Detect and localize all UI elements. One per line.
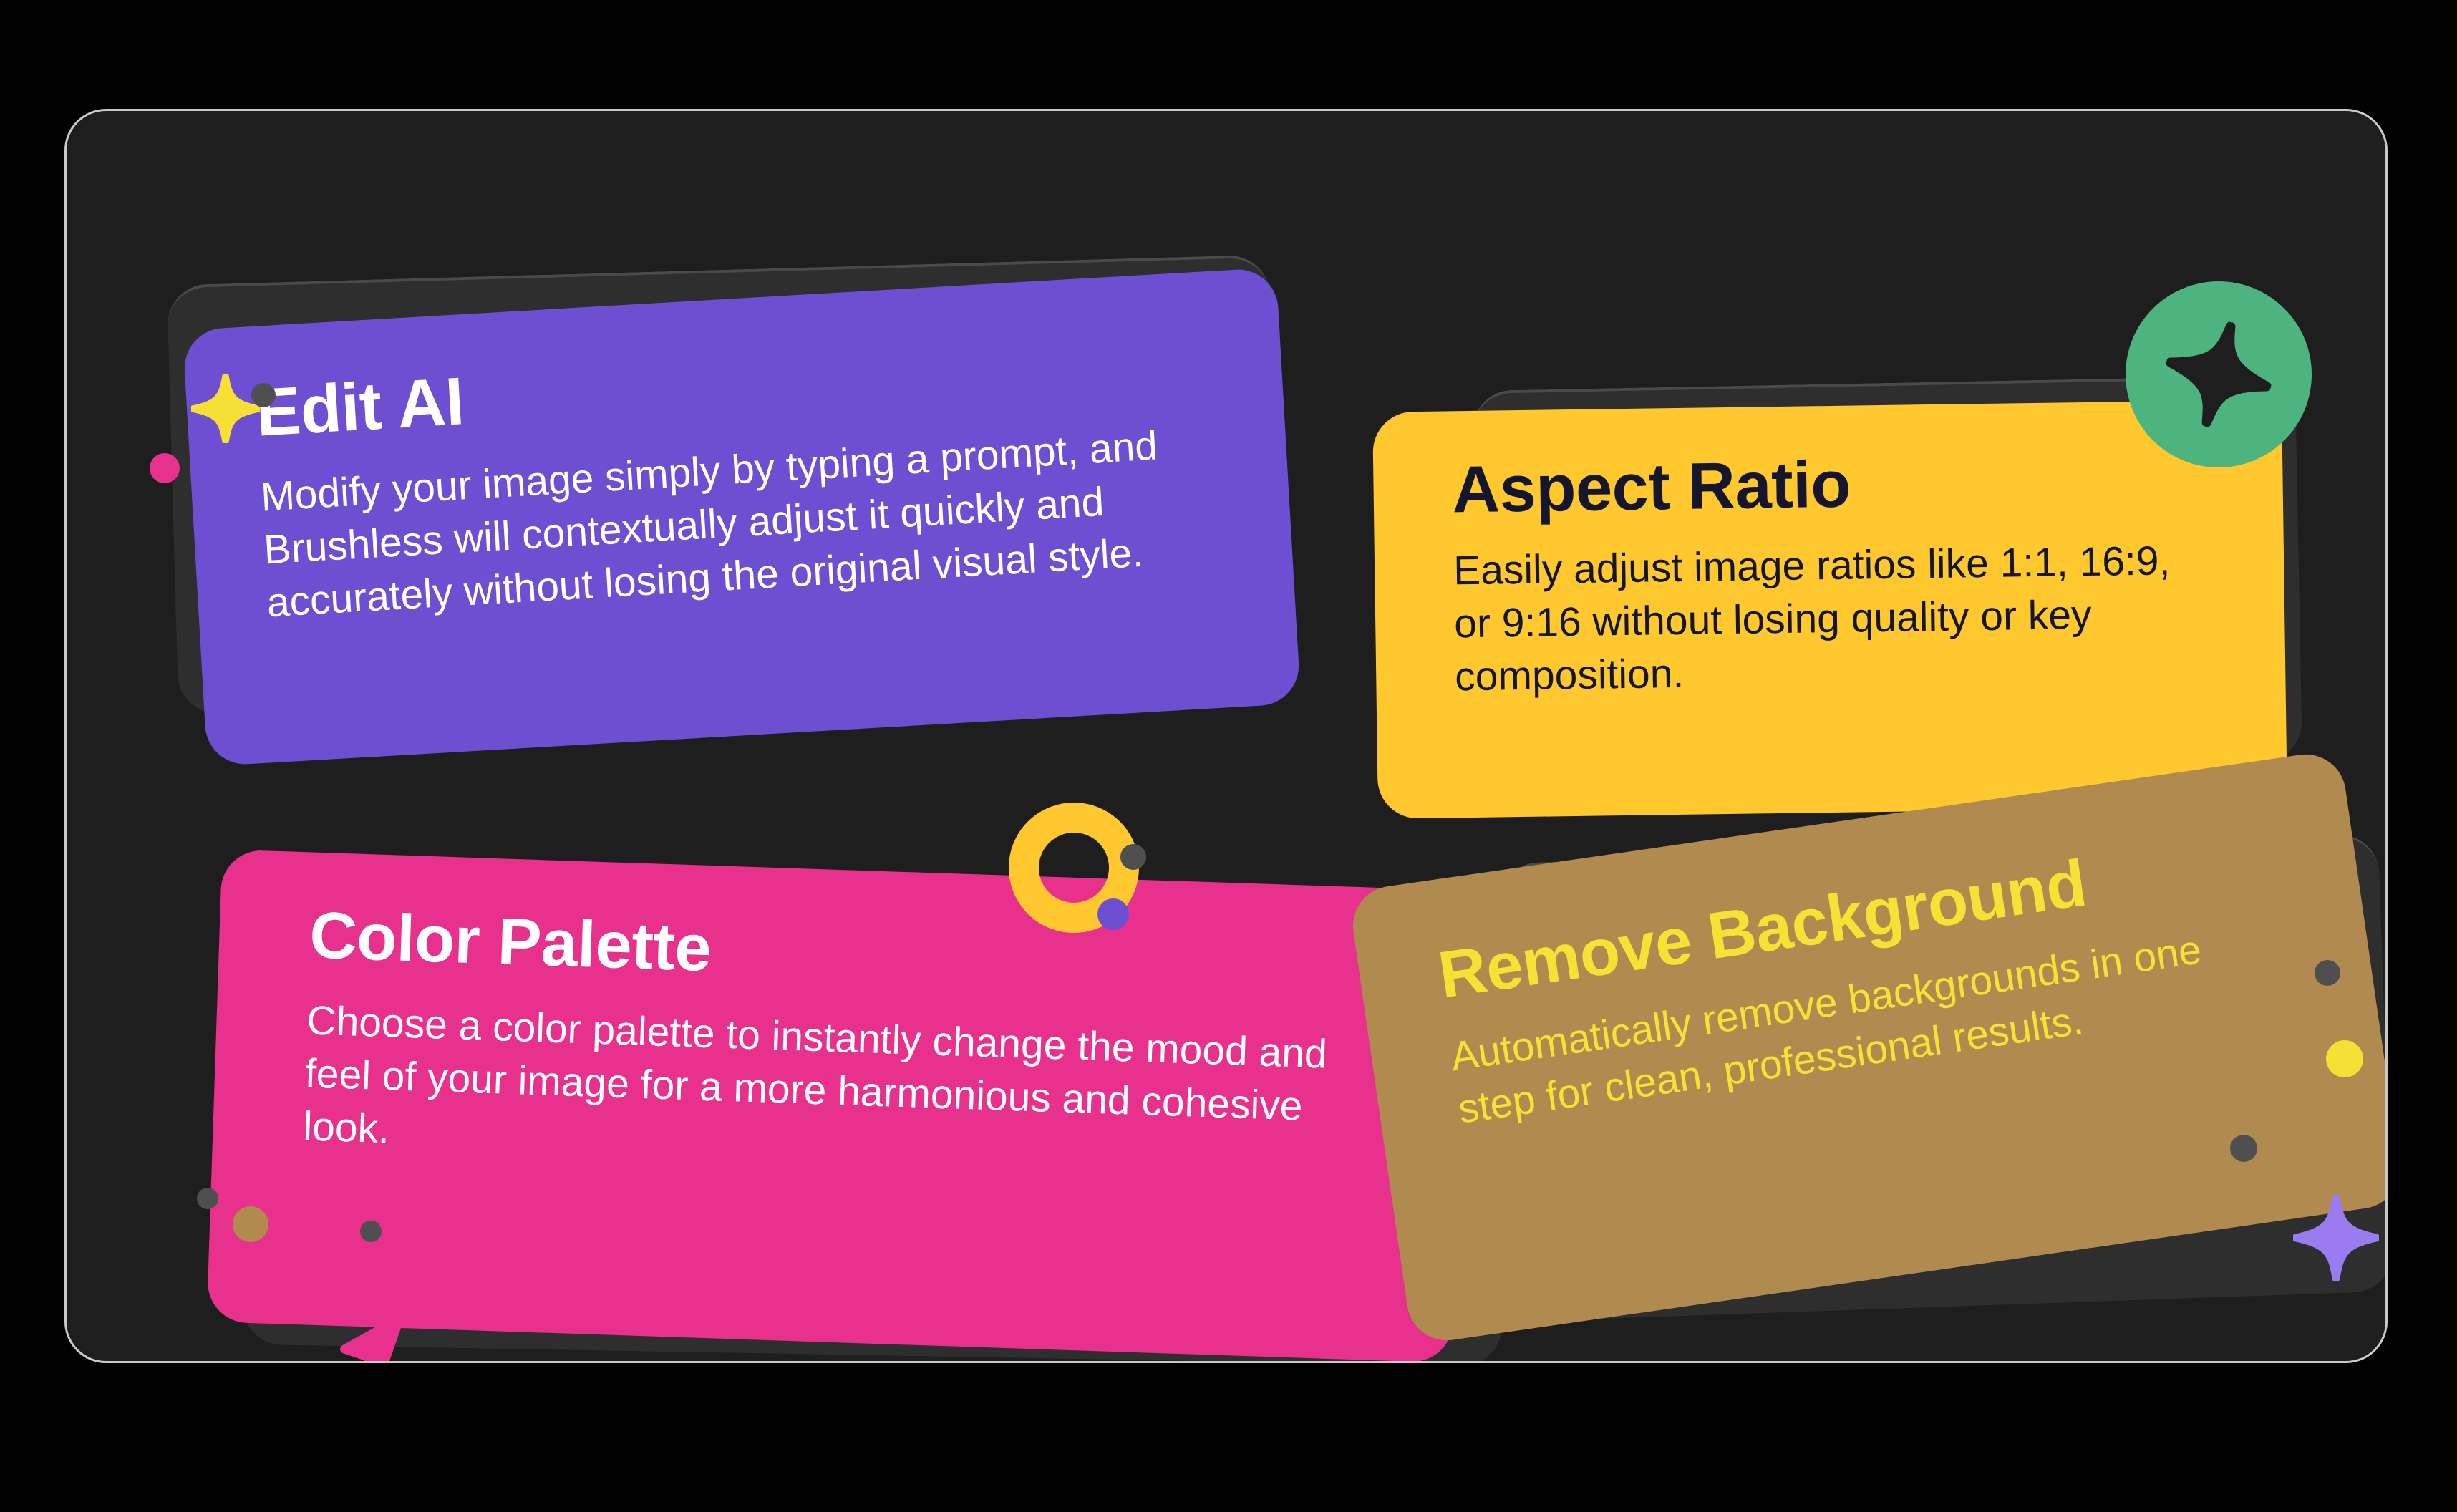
card-title-aspect-ratio: Aspect Ratio xyxy=(1452,446,2226,523)
feature-card-edit-ai[interactable]: Edit AI Modify your image simply by typi… xyxy=(183,267,1302,766)
gray-dot xyxy=(1120,844,1146,870)
gray-dot xyxy=(360,1221,382,1242)
gray-dot xyxy=(251,383,276,407)
gray-dot xyxy=(2315,960,2340,986)
yellow-sparkle-icon xyxy=(191,374,260,443)
tan-dot xyxy=(233,1206,268,1242)
yellow-dot xyxy=(2326,1040,2363,1077)
card-description-edit-ai: Modify your image simply by typing a pro… xyxy=(259,417,1191,629)
feature-card-color-palette[interactable]: Color Palette Choose a color palette to … xyxy=(207,849,1468,1362)
feature-panel: Edit AI Modify your image simply by typi… xyxy=(64,109,2388,1363)
card-description-color-palette: Choose a color palette to instantly chan… xyxy=(302,994,1360,1188)
gray-dot xyxy=(2230,1135,2257,1162)
feature-card-aspect-ratio[interactable]: Aspect Ratio Easily adjust image ratios … xyxy=(1372,399,2287,819)
card-title-color-palette: Color Palette xyxy=(309,902,1401,1004)
cursor-pointer-icon xyxy=(339,1314,407,1363)
sparkle-star-icon xyxy=(2153,309,2284,440)
pink-dot xyxy=(150,453,180,483)
sparkle-badge xyxy=(2126,281,2312,467)
purple-dot xyxy=(1097,898,1129,930)
purple-sparkle-icon xyxy=(2293,1195,2379,1281)
card-description-aspect-ratio: Easily adjust image ratios like 1:1, 16:… xyxy=(1453,534,2214,704)
gray-dot xyxy=(197,1188,218,1209)
